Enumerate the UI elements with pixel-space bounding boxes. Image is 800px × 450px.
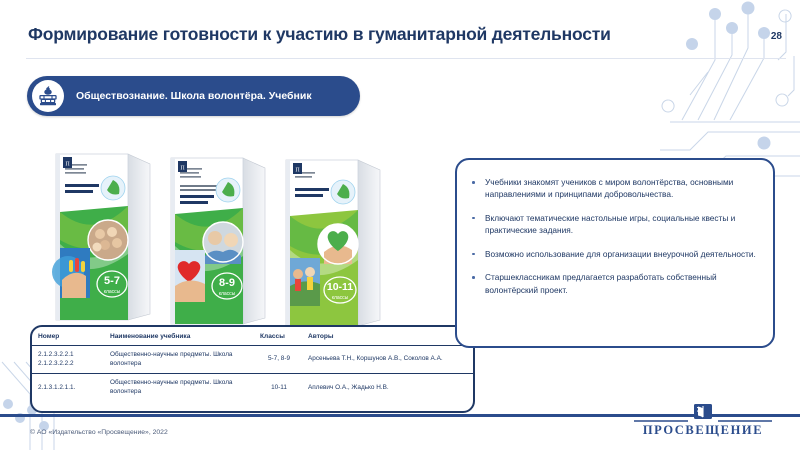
textbook-table: Номер Наименование учебника Классы Автор…	[32, 327, 473, 402]
description-card: Учебники знакомят учеников с миром волон…	[455, 158, 775, 348]
cell-authors: Аплевич О.А., Жадько Н.В.	[302, 374, 473, 402]
svg-text:П: П	[180, 166, 185, 172]
publisher-logo: ПРОСВЕЩЕНИЕ	[628, 404, 778, 440]
table-row: 2.1.2.3.2.2.1 2.1.2.3.2.2.2 Общественно-…	[32, 346, 473, 374]
slide-number: 28	[771, 31, 782, 42]
cell-name: Общественно-научные предметы. Школа воло…	[104, 374, 254, 402]
svg-text:классы: классы	[104, 289, 121, 295]
book-cover-3: П 10-11 классы	[272, 154, 392, 330]
subtitle-pill: Обществознание. Школа волонтёра. Учебник	[27, 76, 360, 116]
subtitle-pill-label: Обществознание. Школа волонтёра. Учебник	[76, 90, 312, 102]
book-grade-2: 8-9	[219, 277, 235, 289]
copyright-text: © АО «Издательство «Просвещение», 2022	[30, 429, 168, 436]
list-item: Возможно использование для организации в…	[469, 248, 759, 260]
cell-number: 2.1.2.3.2.2.1 2.1.2.3.2.2.2	[32, 346, 104, 374]
table-header-classes: Классы	[254, 327, 302, 346]
page-title: Формирование готовности к участию в гума…	[28, 24, 611, 45]
textbook-covers: П 5-7 классы	[42, 148, 412, 328]
book-grade-3: 10-11	[327, 281, 353, 293]
slide-root: Формирование готовности к участию в гума…	[0, 0, 800, 450]
cell-classes: 5-7, 8-9	[254, 346, 302, 374]
svg-text:классы: классы	[332, 295, 349, 301]
apple-on-books-icon	[32, 80, 64, 112]
table-header-name: Наименование учебника	[104, 327, 254, 346]
table-header-row: Номер Наименование учебника Классы Автор…	[32, 327, 473, 346]
list-item: Учебники знакомят учеников с миром волон…	[469, 176, 759, 201]
book-cover-1: П 5-7 классы	[42, 148, 162, 324]
book-cover-2: П 8-9 классы	[157, 152, 277, 328]
list-item: Включают тематические настольные игры, с…	[469, 212, 759, 237]
svg-text:П: П	[65, 162, 70, 168]
cell-name: Общественно-научные предметы. Школа воло…	[104, 346, 254, 374]
cell-authors: Арсеньева Т.Н., Коршунов А.В., Соколов А…	[302, 346, 473, 374]
table-header-number: Номер	[32, 327, 104, 346]
svg-text:П: П	[295, 168, 300, 174]
cell-classes: 10-11	[254, 374, 302, 402]
table-row: 2.1.3.1.2.1.1. Общественно-научные предм…	[32, 374, 473, 402]
list-item: Старшеклассникам предлагается разработат…	[469, 271, 759, 296]
cell-number: 2.1.3.1.2.1.1.	[32, 374, 104, 402]
publisher-logo-text: ПРОСВЕЩЕНИЕ	[643, 423, 763, 437]
number-line: 2.1.3.1.2.1.1.	[38, 384, 100, 393]
table-header-authors: Авторы	[302, 327, 473, 346]
number-line: 2.1.2.3.2.2.2	[38, 360, 100, 369]
open-book-icon	[694, 404, 712, 419]
textbook-table-card: Номер Наименование учебника Классы Автор…	[30, 325, 475, 413]
description-bullet-list: Учебники знакомят учеников с миром волон…	[457, 160, 773, 296]
book-grade-1: 5-7	[104, 275, 120, 287]
number-line: 2.1.2.3.2.2.1	[38, 351, 100, 360]
title-divider	[26, 58, 786, 59]
svg-text:классы: классы	[219, 291, 236, 297]
